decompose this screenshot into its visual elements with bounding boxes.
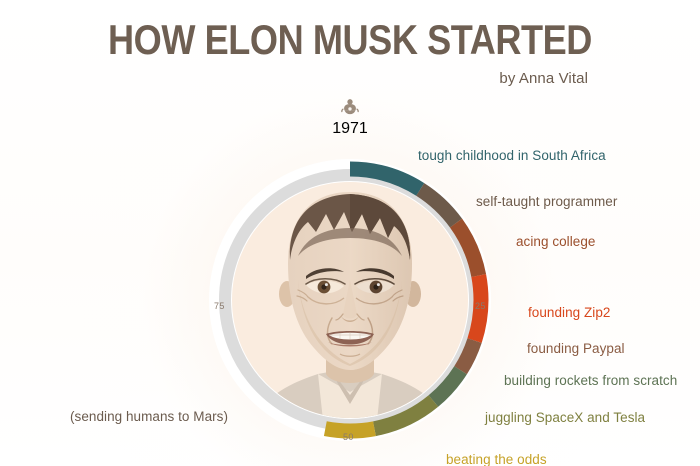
axis-tick-25: 25 xyxy=(475,301,486,311)
timeline-donut-chart xyxy=(202,152,498,448)
segment-label-founding-paypal[interactable]: founding Paypal xyxy=(527,341,625,357)
axis-tick-75: 75 xyxy=(214,301,225,311)
axis-tick-50: 50 xyxy=(343,432,354,442)
segment-label-founding-zip2[interactable]: founding Zip2 xyxy=(528,305,610,321)
segment-label-juggling-spacex-tesla[interactable]: juggling SpaceX and Tesla xyxy=(485,410,645,426)
infographic-canvas: HOW ELON MUSK STARTED by Anna Vital 1971 xyxy=(0,0,700,466)
side-note: (sending humans to Mars) xyxy=(70,409,228,425)
byline: by Anna Vital xyxy=(499,70,588,87)
segment-label-tough-childhood[interactable]: tough childhood in South Africa xyxy=(418,148,606,164)
page-title: HOW ELON MUSK STARTED xyxy=(49,18,651,62)
segment-label-self-taught-programmer[interactable]: self-taught programmer xyxy=(476,194,617,210)
start-year-label: 1971 xyxy=(0,120,700,138)
segment-label-building-rockets[interactable]: building rockets from scratch xyxy=(504,373,677,389)
start-marker: 1971 xyxy=(0,98,700,138)
baby-icon xyxy=(340,98,360,118)
segment-label-beating-the-odds[interactable]: beating the odds xyxy=(446,452,547,466)
segment-label-acing-college[interactable]: acing college xyxy=(516,234,595,250)
